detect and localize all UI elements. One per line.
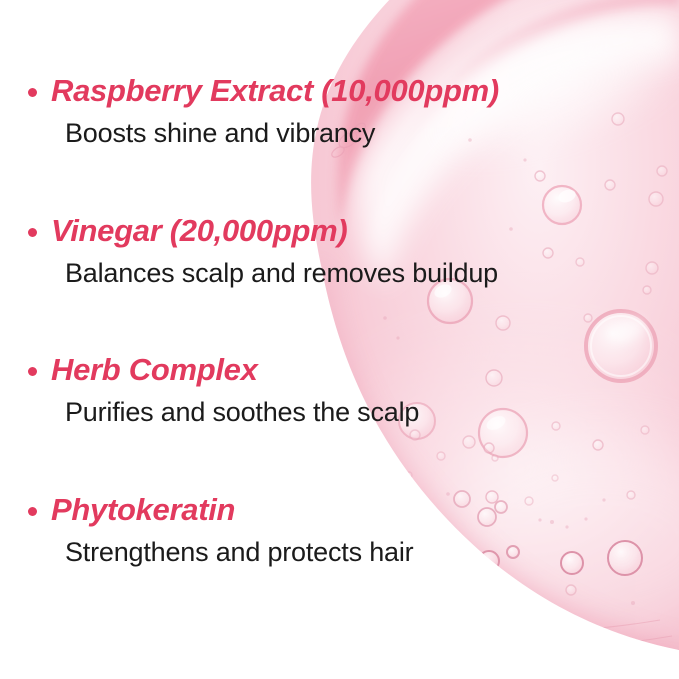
ingredient-item-herb-complex: Herb Complex Purifies and soothes the sc… <box>28 351 419 429</box>
ingredient-heading: Herb Complex <box>51 351 258 389</box>
ingredient-heading: Vinegar (20,000ppm) <box>51 212 347 250</box>
ingredient-heading: Raspberry Extract (10,000ppm) <box>51 72 499 110</box>
ingredient-description: Balances scalp and removes buildup <box>65 257 498 290</box>
ingredient-item-phytokeratin: Phytokeratin Strengthens and protects ha… <box>28 491 413 569</box>
bullet-dot-icon <box>28 367 37 376</box>
product-ingredient-graphic: Raspberry Extract (10,000ppm) Boosts shi… <box>0 0 679 679</box>
ingredient-description: Boosts shine and vibrancy <box>65 117 499 150</box>
ingredient-heading-row: Raspberry Extract (10,000ppm) <box>28 72 499 110</box>
ingredient-heading-row: Phytokeratin <box>28 491 413 529</box>
bullet-dot-icon <box>28 88 37 97</box>
ingredient-list: Raspberry Extract (10,000ppm) Boosts shi… <box>0 0 679 679</box>
ingredient-heading: Phytokeratin <box>51 491 235 529</box>
ingredient-heading-row: Vinegar (20,000ppm) <box>28 212 498 250</box>
ingredient-description: Purifies and soothes the scalp <box>65 396 419 429</box>
bullet-dot-icon <box>28 228 37 237</box>
bullet-dot-icon <box>28 507 37 516</box>
ingredient-heading-row: Herb Complex <box>28 351 419 389</box>
ingredient-item-vinegar: Vinegar (20,000ppm) Balances scalp and r… <box>28 212 498 290</box>
ingredient-item-raspberry-extract: Raspberry Extract (10,000ppm) Boosts shi… <box>28 72 499 150</box>
ingredient-description: Strengthens and protects hair <box>65 536 413 569</box>
